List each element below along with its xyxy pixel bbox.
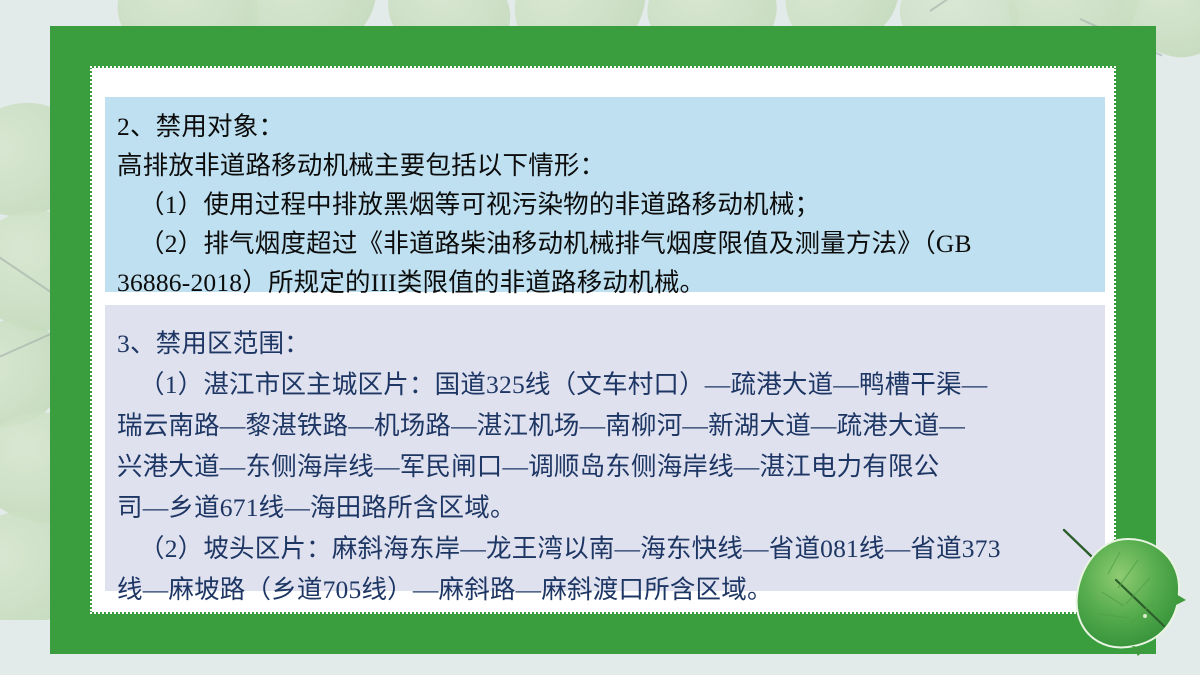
slide-canvas: 2、禁用对象： 高排放非道路移动机械主要包括以下情形： （1）使用过程中排放黑烟… — [0, 0, 1200, 675]
objects-item-2-cont: 36886-2018）所规定的III类限值的非道路移动机械。 — [117, 263, 1093, 302]
objects-item-1: （1）使用过程中排放黑烟等可视污染物的非道路移动机械； — [117, 185, 1093, 224]
scope-item-1: （1）湛江市区主城区片：国道325线（文车村口）—疏港大道—鸭槽干渠— — [117, 364, 1093, 405]
scope-item-1-cont-b: 兴港大道—东侧海岸线—军民闸口—调顺岛东侧海岸线—湛江电力有限公 — [117, 446, 1093, 487]
objects-item-2: （2）排气烟度超过《非道路柴油移动机械排气烟度限值及测量方法》（GB — [117, 224, 1093, 263]
scope-item-2: （2）坡头区片：麻斜海东岸—龙王湾以南—海东快线—省道081线—省道373 — [117, 528, 1093, 569]
scope-item-2-cont: 线—麻坡路（乡道705线）—麻斜路—麻斜渡口所含区域。 — [117, 569, 1093, 610]
scope-item-1-cont-a: 瑞云南路—黎湛铁路—机场路—湛江机场—南柳河—新湖大道—疏港大道— — [117, 405, 1093, 446]
objects-heading: 2、禁用对象： — [117, 107, 1093, 146]
objects-intro: 高排放非道路移动机械主要包括以下情形： — [117, 146, 1093, 185]
prohibited-objects-block: 2、禁用对象： 高排放非道路移动机械主要包括以下情形： （1）使用过程中排放黑烟… — [105, 97, 1105, 292]
scope-heading: 3、禁用区范围： — [117, 323, 1093, 364]
prohibited-area-scope-block: 3、禁用区范围： （1）湛江市区主城区片：国道325线（文车村口）—疏港大道—鸭… — [105, 305, 1105, 591]
scope-item-1-cont-c: 司—乡道671线—海田路所含区域。 — [117, 487, 1093, 528]
